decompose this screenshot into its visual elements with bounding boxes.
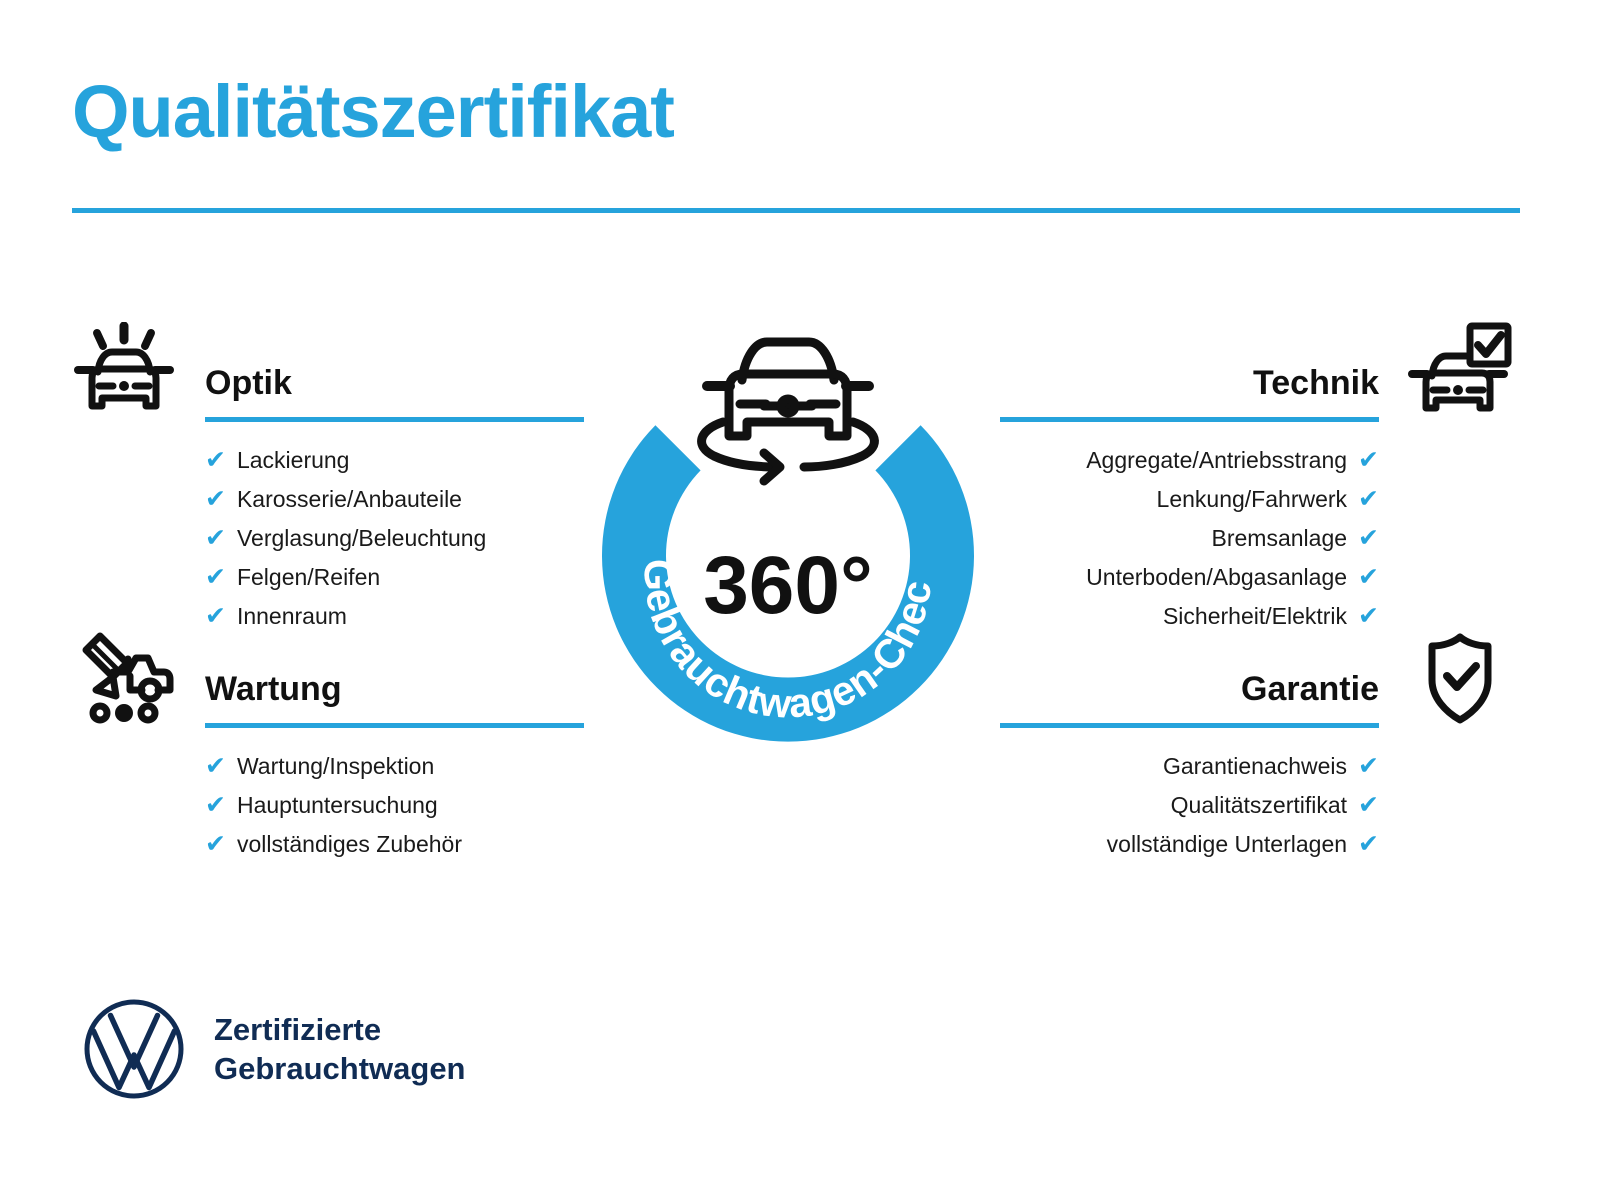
- list-item-label: Lackierung: [237, 449, 350, 472]
- list-item-label: vollständige Unterlagen: [1107, 833, 1347, 856]
- section-wartung-divider: [205, 723, 584, 728]
- section-garantie-header: Garantie: [1000, 628, 1512, 732]
- shield-check-icon: [1408, 628, 1512, 728]
- list-item-label: Unterboden/Abgasanlage: [1086, 566, 1347, 589]
- list-item: ✔ Verglasung/Beleuchtung: [205, 526, 584, 551]
- check-icon: ✔: [205, 604, 226, 629]
- list-item-label: Verglasung/Beleuchtung: [237, 527, 486, 550]
- list-item-label: Garantienachweis: [1163, 755, 1347, 778]
- check-icon: ✔: [1358, 565, 1379, 590]
- check-icon: ✔: [1358, 604, 1379, 629]
- footer-line-2: Gebrauchtwagen: [214, 1049, 466, 1088]
- page-title: Qualitätszertifikat: [72, 75, 674, 149]
- list-item-label: Qualitätszertifikat: [1171, 794, 1347, 817]
- list-item-label: Bremsanlage: [1212, 527, 1348, 550]
- list-item-label: Hauptuntersuchung: [237, 794, 438, 817]
- list-item: Qualitätszertifikat ✔: [1000, 793, 1379, 818]
- section-optik: Optik ✔ Lackierung ✔ Karosserie/Anbautei…: [72, 322, 584, 643]
- check-icon: ✔: [205, 754, 226, 779]
- check-icon: ✔: [1358, 832, 1379, 857]
- car-shine-icon: [72, 322, 176, 422]
- section-optik-divider: [205, 417, 584, 422]
- badge-center-label: 360°: [703, 540, 873, 631]
- check-icon: ✔: [1358, 487, 1379, 512]
- optik-check-list: ✔ Lackierung ✔ Karosserie/Anbauteile ✔ V…: [205, 448, 584, 629]
- footer-brand: Zertifizierte Gebrauchtwagen: [80, 995, 466, 1103]
- section-optik-title: Optik: [205, 366, 292, 400]
- list-item: ✔ Lackierung: [205, 448, 584, 473]
- section-wartung-title: Wartung: [205, 672, 342, 706]
- footer-line-1: Zertifizierte: [214, 1010, 466, 1049]
- list-item: ✔ Wartung/Inspektion: [205, 754, 584, 779]
- section-garantie: Garantie Garantienachweis ✔ Qualitätszer…: [1000, 628, 1512, 871]
- technik-check-list: Aggregate/Antriebsstrang ✔ Lenkung/Fahrw…: [1000, 448, 1379, 629]
- 360-check-badge: Gebrauchtwagen-Check 360°: [568, 310, 1008, 780]
- check-icon: ✔: [205, 487, 226, 512]
- list-item: ✔ Hauptuntersuchung: [205, 793, 584, 818]
- section-technik-header: Technik: [1000, 322, 1512, 426]
- section-wartung-header: Wartung: [72, 628, 584, 732]
- car-rotation-icon: [702, 342, 875, 481]
- list-item-label: Aggregate/Antriebsstrang: [1086, 449, 1347, 472]
- list-item-label: Wartung/Inspektion: [237, 755, 434, 778]
- list-item-label: Sicherheit/Elektrik: [1163, 605, 1347, 628]
- garantie-check-list: Garantienachweis ✔ Qualitätszertifikat ✔…: [1000, 754, 1379, 857]
- list-item: ✔ vollständiges Zubehör: [205, 832, 584, 857]
- wartung-check-list: ✔ Wartung/Inspektion ✔ Hauptuntersuchung…: [205, 754, 584, 857]
- list-item-label: Karosserie/Anbauteile: [237, 488, 462, 511]
- list-item-label: vollständiges Zubehör: [237, 833, 462, 856]
- car-checkbox-icon: [1408, 322, 1512, 422]
- list-item: Aggregate/Antriebsstrang ✔: [1000, 448, 1379, 473]
- list-item: Unterboden/Abgasanlage ✔: [1000, 565, 1379, 590]
- certificate-page: Qualitätszertifikat: [0, 0, 1600, 1200]
- section-optik-header: Optik: [72, 322, 584, 426]
- check-icon: ✔: [205, 832, 226, 857]
- list-item: vollständige Unterlagen ✔: [1000, 832, 1379, 857]
- section-technik: Technik Aggregate/Antriebsstrang ✔ Lenku…: [1000, 322, 1512, 643]
- list-item-label: Lenkung/Fahrwerk: [1157, 488, 1348, 511]
- check-icon: ✔: [205, 448, 226, 473]
- list-item: Sicherheit/Elektrik ✔: [1000, 604, 1379, 629]
- section-technik-title: Technik: [1253, 366, 1379, 400]
- list-item: Garantienachweis ✔: [1000, 754, 1379, 779]
- title-divider: [72, 208, 1520, 213]
- check-icon: ✔: [1358, 448, 1379, 473]
- check-icon: ✔: [1358, 793, 1379, 818]
- list-item-label: Felgen/Reifen: [237, 566, 380, 589]
- check-icon: ✔: [205, 526, 226, 551]
- car-service-pencil-icon: [72, 628, 176, 728]
- list-item: Lenkung/Fahrwerk ✔: [1000, 487, 1379, 512]
- section-garantie-divider: [1000, 723, 1379, 728]
- check-icon: ✔: [1358, 754, 1379, 779]
- list-item-label: Innenraum: [237, 605, 347, 628]
- check-icon: ✔: [205, 565, 226, 590]
- section-wartung: Wartung ✔ Wartung/Inspektion ✔ Hauptunte…: [72, 628, 584, 871]
- volkswagen-logo: [80, 995, 188, 1103]
- list-item: ✔ Karosserie/Anbauteile: [205, 487, 584, 512]
- footer-text: Zertifizierte Gebrauchtwagen: [214, 1010, 466, 1088]
- list-item: Bremsanlage ✔: [1000, 526, 1379, 551]
- check-icon: ✔: [205, 793, 226, 818]
- list-item: ✔ Felgen/Reifen: [205, 565, 584, 590]
- check-icon: ✔: [1358, 526, 1379, 551]
- section-garantie-title: Garantie: [1241, 672, 1379, 706]
- section-technik-divider: [1000, 417, 1379, 422]
- list-item: ✔ Innenraum: [205, 604, 584, 629]
